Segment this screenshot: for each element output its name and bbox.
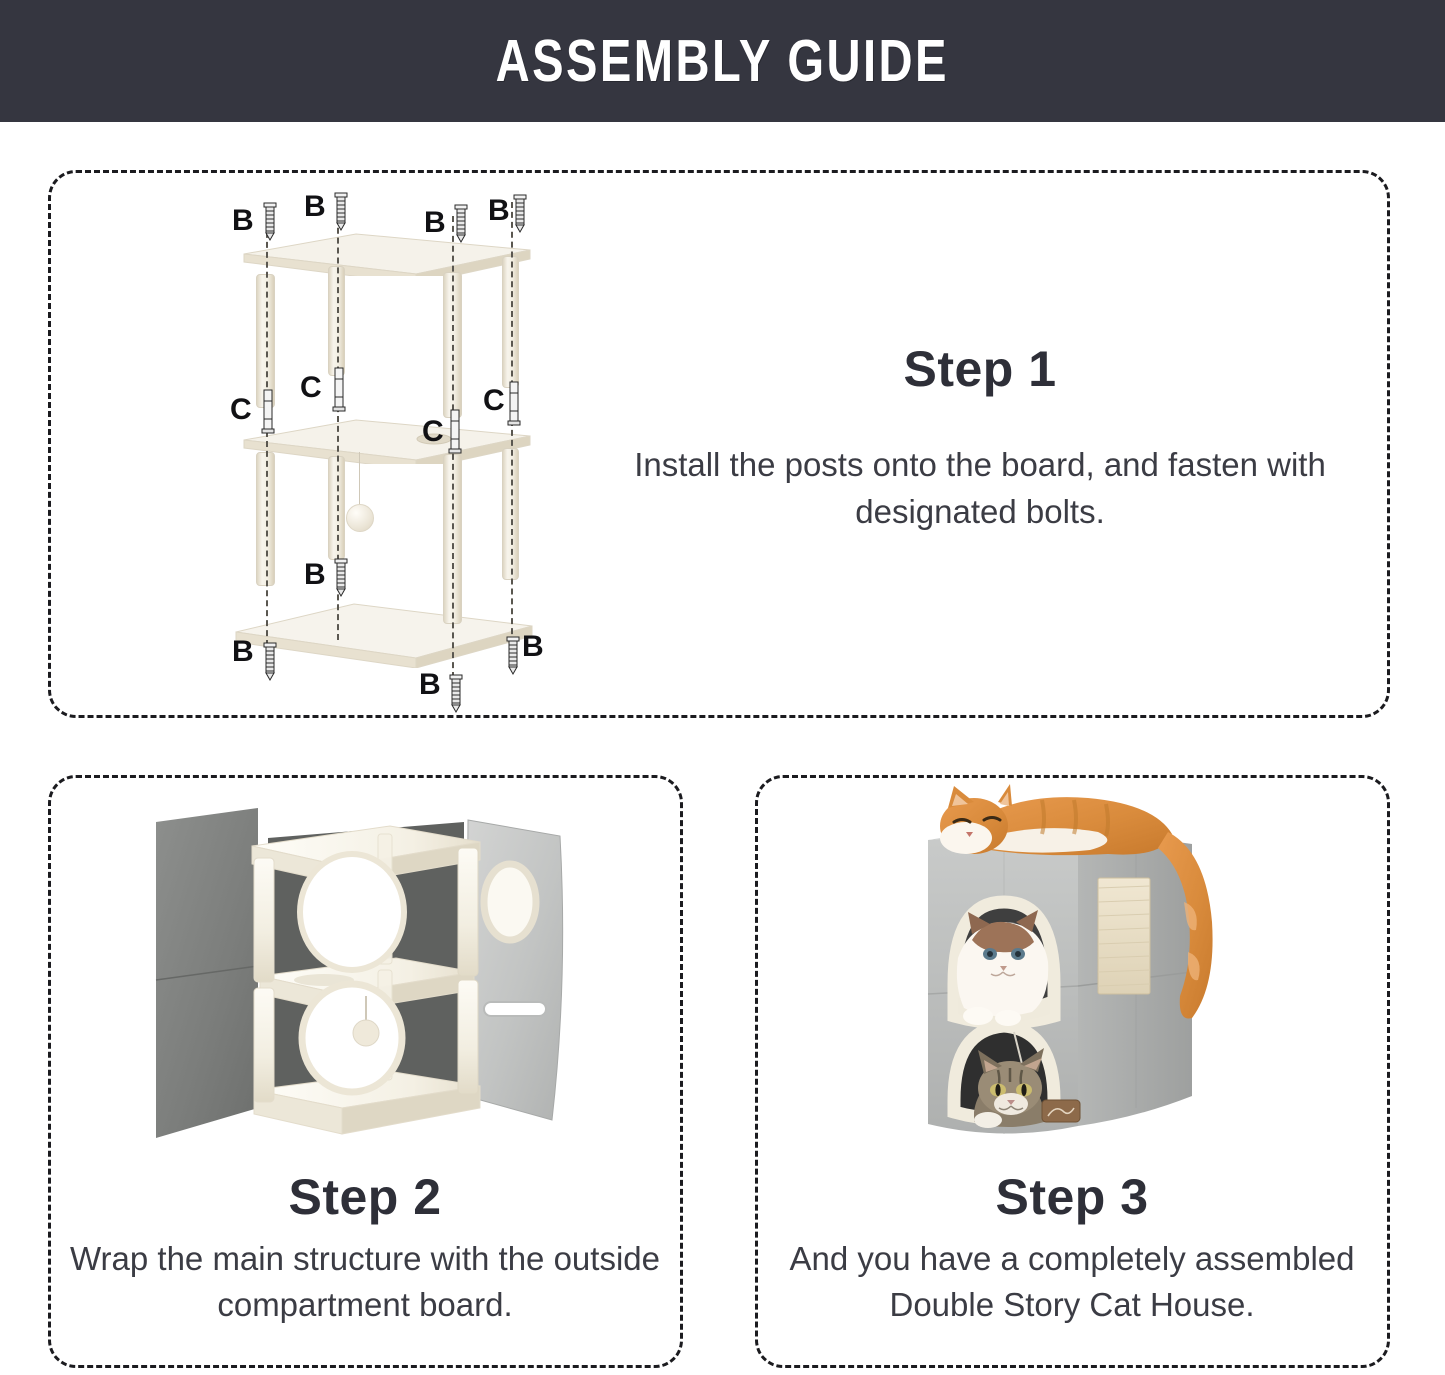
middle-board (238, 418, 536, 464)
part-label-c: C (483, 386, 505, 416)
bolt-screw-icon (333, 192, 349, 236)
barrel-connector-icon (261, 388, 275, 434)
part-label-c: C (300, 373, 322, 403)
bolt-screw-icon (262, 202, 278, 246)
barrel-connector-icon (507, 380, 521, 426)
brand-tag (1042, 1100, 1080, 1122)
page-header: ASSEMBLY GUIDE (0, 0, 1445, 122)
part-label-c: C (422, 417, 444, 447)
part-label-b: B (304, 192, 326, 222)
bolt-screw-icon (448, 674, 464, 718)
step-2-body: Wrap the main structure with the outside… (60, 1236, 670, 1328)
part-label-b: B (232, 637, 254, 667)
pompom-string (359, 452, 360, 506)
bolt-screw-icon (262, 642, 278, 686)
step-3-illustration (892, 782, 1292, 1170)
step-1-title: Step 1 (625, 340, 1335, 398)
step-2-illustration (128, 790, 568, 1168)
step-1-diagram: B B B B C C C C B B B B (200, 190, 570, 700)
bolt-screw-icon (453, 204, 469, 248)
bolt-screw-icon (333, 558, 349, 602)
part-label-c: C (230, 395, 252, 425)
part-label-b: B (522, 632, 544, 662)
barrel-connector-icon (448, 408, 462, 454)
step-2-title: Step 2 (60, 1168, 670, 1226)
part-label-b: B (488, 196, 510, 226)
part-label-b: B (419, 670, 441, 700)
part-label-b: B (232, 206, 254, 236)
step-3-title: Step 3 (767, 1168, 1377, 1226)
assembly-guide-page: ASSEMBLY GUIDE (0, 0, 1445, 1375)
bolt-screw-icon (505, 636, 521, 680)
part-label-b: B (424, 208, 446, 238)
bolt-screw-icon (512, 194, 528, 238)
step-2-text-block: Step 2 Wrap the main structure with the … (60, 1168, 670, 1328)
step-1-body: Install the posts onto the board, and fa… (625, 442, 1335, 536)
step-1-text-block: Step 1 Install the posts onto the board,… (625, 340, 1335, 536)
barrel-connector-icon (332, 366, 346, 412)
top-board (238, 232, 536, 276)
part-label-b: B (304, 560, 326, 590)
guide-line-1 (266, 212, 268, 656)
page-title: ASSEMBLY GUIDE (496, 27, 949, 95)
step-3-text-block: Step 3 And you have a completely assembl… (767, 1168, 1377, 1328)
step-3-body: And you have a completely assembled Doub… (767, 1236, 1377, 1328)
pompom-ball (346, 504, 374, 532)
